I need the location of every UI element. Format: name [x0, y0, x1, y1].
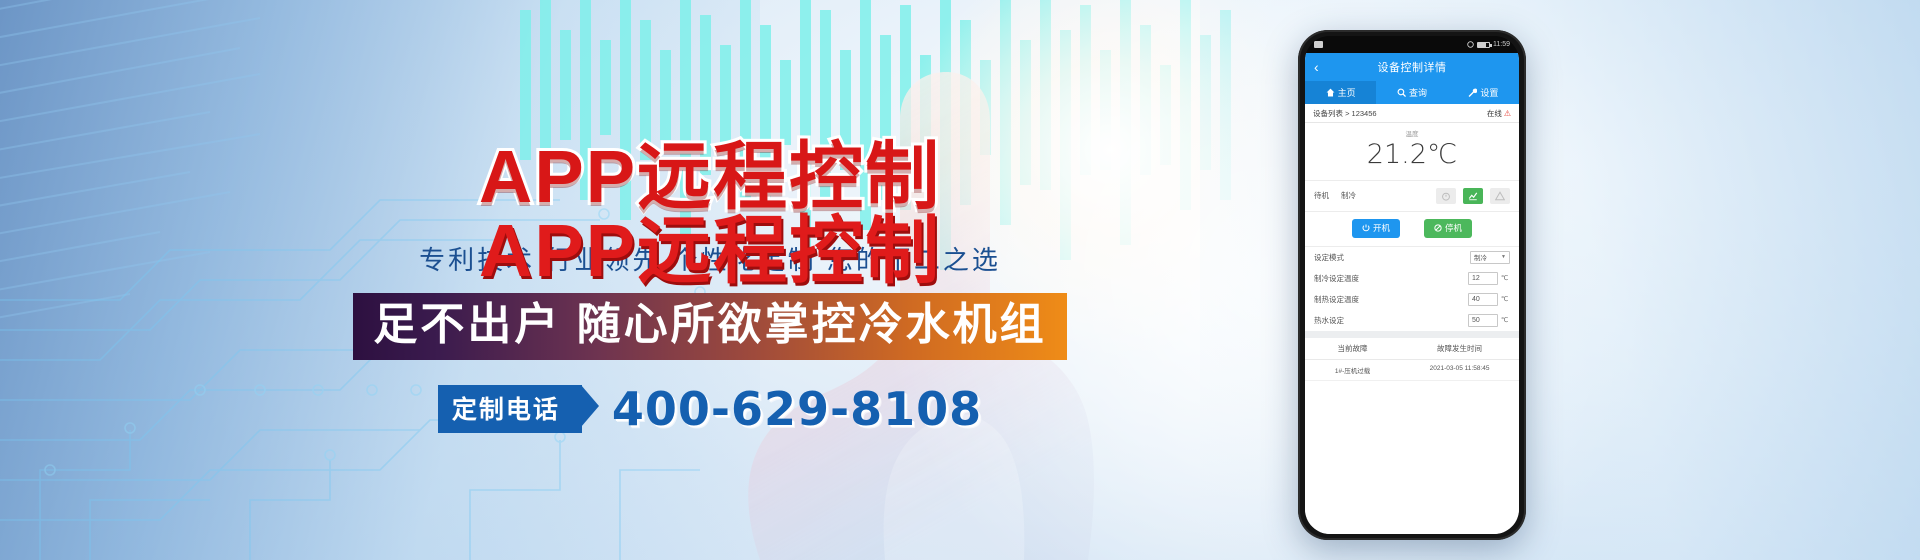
- sim-card-icon: [1314, 41, 1323, 48]
- chart-icon: [1468, 191, 1478, 201]
- power-on-button[interactable]: 开机: [1352, 219, 1400, 238]
- param-row-heat-temp: 制热设定温度 40 ℃: [1305, 289, 1519, 310]
- headline-wrapper: APP远程控制 APP远程控制: [330, 140, 1090, 226]
- contact-row: 定制电话 400-629-8108: [330, 382, 1090, 436]
- mode-select[interactable]: 制冷 ▼: [1470, 251, 1510, 264]
- tab-home[interactable]: 主页: [1305, 81, 1376, 104]
- device-status: 在线 ⚠: [1487, 108, 1511, 119]
- phone-screen-frame: 11:59 ‹ 设备控制详情 主页 查询: [1305, 36, 1519, 534]
- temperature-value: 21.2℃: [1305, 138, 1519, 172]
- app-tabbar: 主页 查询 设置: [1305, 81, 1519, 104]
- device-status-label: 在线: [1487, 108, 1502, 119]
- tab-home-label: 主页: [1338, 86, 1356, 99]
- status-bar-right: 11:59: [1467, 41, 1510, 48]
- app-title: 设备控制详情: [1305, 59, 1519, 75]
- app-screen: ‹ 设备控制详情 主页 查询 设置: [1305, 53, 1519, 534]
- heat-temp-input[interactable]: 40: [1468, 293, 1498, 306]
- param-label-heat-temp: 制热设定温度: [1314, 294, 1359, 305]
- machine-state-label: 待机: [1314, 190, 1329, 201]
- param-value-heat-temp: 40 ℃: [1468, 293, 1510, 306]
- tab-query[interactable]: 查询: [1376, 81, 1447, 104]
- param-value-hotwater: 50 ℃: [1468, 314, 1510, 327]
- param-label-hotwater: 热水设定: [1314, 315, 1344, 326]
- fault-col-name: 当前故障: [1305, 343, 1400, 354]
- heat-temp-unit: ℃: [1501, 295, 1510, 303]
- table-row[interactable]: 1#-压机过载 2021-03-05 11:58:45: [1305, 360, 1519, 381]
- phone-status-bar: 11:59: [1305, 36, 1519, 53]
- tab-settings-label: 设置: [1480, 86, 1498, 99]
- headline-outline: APP远程控制: [330, 140, 1090, 214]
- alarm-icon: [1495, 191, 1505, 201]
- param-value-cool-temp: 12 ℃: [1468, 272, 1510, 285]
- power-on-label: 开机: [1373, 222, 1390, 234]
- param-label-mode: 设定模式: [1314, 252, 1344, 263]
- phone-mockup: 11:59 ‹ 设备控制详情 主页 查询: [1298, 30, 1526, 540]
- warning-triangle-icon: ⚠: [1504, 109, 1511, 118]
- hotwater-unit: ℃: [1501, 316, 1510, 324]
- fault-name-cell: 1#-压机过载: [1305, 365, 1400, 375]
- fault-table-header: 当前故障 故障发生时间: [1305, 338, 1519, 360]
- hotwater-input[interactable]: 50: [1468, 314, 1498, 327]
- mode-status-row: 待机 制冷: [1305, 181, 1519, 212]
- alarm-icon-button[interactable]: [1490, 188, 1510, 204]
- breadcrumb-path[interactable]: 设备列表 > 123456: [1313, 108, 1377, 119]
- power-off-label: 停机: [1445, 222, 1462, 234]
- table-empty-space: [1305, 381, 1519, 534]
- param-label-cool-temp: 制冷设定温度: [1314, 273, 1359, 284]
- location-icon: [1467, 41, 1474, 48]
- battery-icon: [1477, 42, 1490, 48]
- wrench-icon: [1468, 88, 1477, 97]
- app-header: ‹ 设备控制详情: [1305, 53, 1519, 81]
- temperature-label: 温度: [1305, 128, 1519, 138]
- param-row-hotwater: 热水设定 50 ℃: [1305, 310, 1519, 331]
- machine-mode-label: 制冷: [1341, 190, 1356, 201]
- banner-stage: APP远程控制 APP远程控制 专利技术 行业领先 个性化定制 您的不二之选 足…: [0, 0, 1920, 560]
- timer-icon: [1441, 191, 1451, 201]
- fault-table: 当前故障 故障发生时间 1#-压机过载 2021-03-05 11:58:45: [1305, 338, 1519, 381]
- quick-action-icons: [1436, 188, 1510, 204]
- cool-temp-input[interactable]: 12: [1468, 272, 1498, 285]
- chevron-down-icon: ▼: [1501, 254, 1506, 260]
- tab-query-label: 查询: [1409, 86, 1427, 99]
- tab-settings[interactable]: 设置: [1448, 81, 1519, 104]
- fault-col-time: 故障发生时间: [1400, 343, 1519, 354]
- tel-tag-label: 定制电话: [438, 385, 582, 433]
- chart-icon-button[interactable]: [1463, 188, 1483, 204]
- status-bar-time: 11:59: [1493, 41, 1510, 48]
- mode-select-value: 制冷: [1474, 252, 1487, 262]
- status-bar-left: [1314, 41, 1323, 48]
- timer-icon-button[interactable]: [1436, 188, 1456, 204]
- page-headline: APP远程控制: [330, 214, 1090, 288]
- fault-time-cell: 2021-03-05 11:58:45: [1400, 365, 1519, 375]
- param-row-mode: 设定模式 制冷 ▼: [1305, 247, 1519, 268]
- power-off-button[interactable]: 停机: [1424, 219, 1472, 238]
- temperature-card: 温度 21.2℃: [1305, 123, 1519, 181]
- highlight-ribbon: 足不出户 随心所欲掌控冷水机组: [353, 293, 1066, 360]
- tel-number[interactable]: 400-629-8108: [612, 382, 982, 436]
- breadcrumb-bar: 设备列表 > 123456 在线 ⚠: [1305, 104, 1519, 123]
- section-divider: [1305, 331, 1519, 338]
- power-icon: [1362, 224, 1370, 232]
- home-icon: [1326, 88, 1335, 97]
- promo-copy-block: APP远程控制 APP远程控制 专利技术 行业领先 个性化定制 您的不二之选 足…: [330, 140, 1090, 436]
- stop-icon: [1434, 224, 1442, 232]
- power-button-row: 开机 停机: [1305, 212, 1519, 247]
- search-icon: [1397, 88, 1406, 97]
- cool-temp-unit: ℃: [1501, 274, 1510, 282]
- param-row-cool-temp: 制冷设定温度 12 ℃: [1305, 268, 1519, 289]
- param-value-mode: 制冷 ▼: [1470, 251, 1510, 264]
